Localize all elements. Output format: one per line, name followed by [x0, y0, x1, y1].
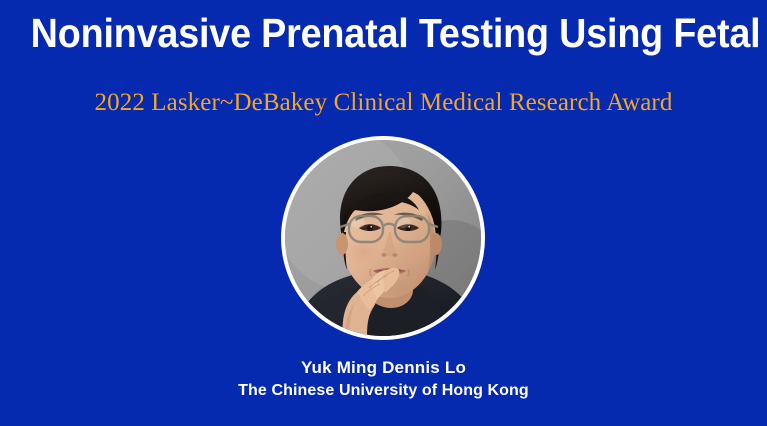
page-title: Noninvasive Prenatal Testing Using Fetal… [31, 8, 737, 58]
portrait [281, 136, 485, 340]
award-slide: Noninvasive Prenatal Testing Using Fetal… [0, 0, 767, 426]
person-affiliation: The Chinese University of Hong Kong [0, 381, 767, 400]
portrait-clip [285, 140, 481, 336]
portrait-photo [285, 140, 481, 336]
person-name: Yuk Ming Dennis Lo [0, 358, 767, 378]
award-subtitle: 2022 Lasker~DeBakey Clinical Medical Res… [0, 88, 767, 118]
